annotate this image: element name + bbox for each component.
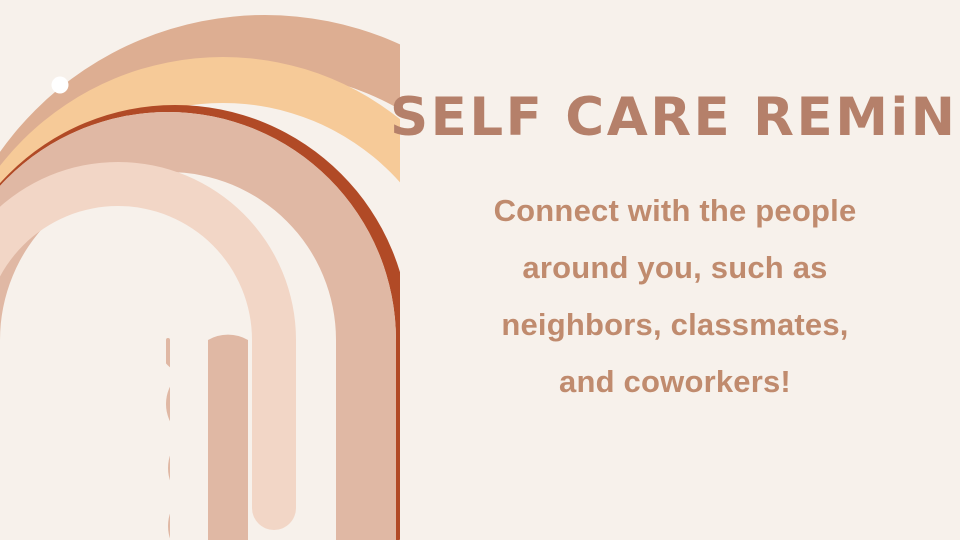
page-title-part-1: SELF CARE REM: [390, 87, 890, 148]
message-line-3: neighbors, classmates,: [412, 296, 938, 353]
message-line-4: and coworkers!: [412, 353, 938, 410]
page-title-lowercase-i: i: [890, 88, 910, 148]
rainbow-svg: [0, 0, 400, 540]
message-line-2: around you, such as: [412, 239, 938, 296]
body-message: Connect with the people around you, such…: [412, 182, 938, 410]
slide-canvas: SELF CARE REMiNDERS Connect with the peo…: [0, 0, 960, 540]
page-title-part-2: NDERS: [911, 87, 960, 148]
message-line-1: Connect with the people: [412, 182, 938, 239]
text-column: SELF CARE REMiNDERS Connect with the peo…: [390, 0, 960, 540]
boho-rainbow-graphic: [0, 0, 400, 540]
page-title: SELF CARE REMiNDERS: [390, 88, 960, 148]
